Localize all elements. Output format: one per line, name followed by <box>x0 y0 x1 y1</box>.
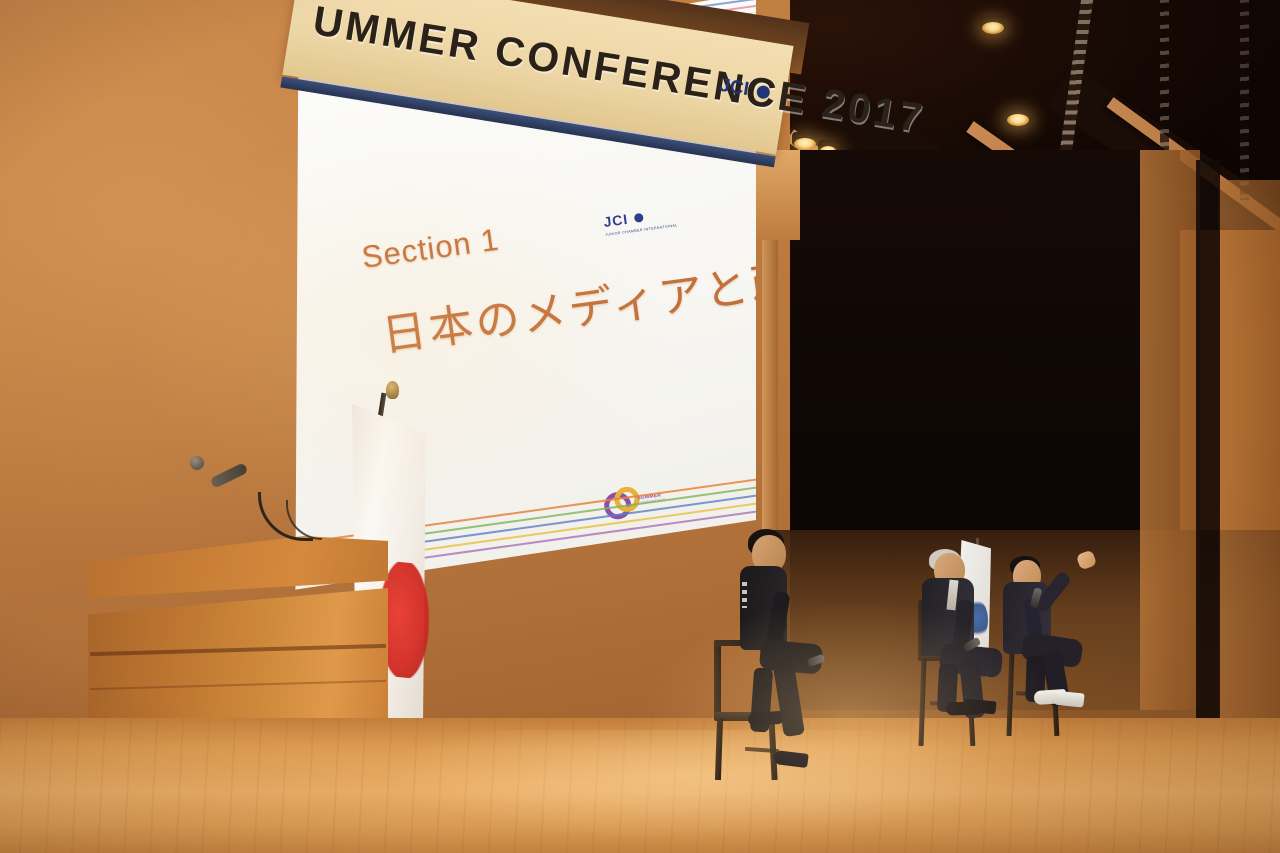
banner-jci-text: JCI <box>718 75 751 100</box>
slide-jci-logo: JCI JUNIOR CHAMBER INTERNATIONAL <box>602 204 677 236</box>
spotlight-icon <box>1007 114 1029 126</box>
spotlight-icon <box>794 138 816 150</box>
stage-floor-reflection <box>380 730 1000 840</box>
stool-back-rail <box>714 640 742 646</box>
slide-jci-logo-text: JCI <box>602 211 629 230</box>
stage-wing-gap <box>1196 160 1220 720</box>
shirt-sleeve-print <box>742 582 747 608</box>
stage-photo: JCI JUNIOR CHAMBER INTERNATIONAL Section… <box>0 0 1280 853</box>
spotlight-icon <box>982 22 1004 34</box>
stage-wing-panel <box>1140 150 1200 710</box>
shoe <box>748 711 783 726</box>
banner-jci-dot <box>756 85 771 100</box>
stool-back-post <box>714 640 721 718</box>
flag-finial <box>386 381 399 399</box>
microphone-capsule <box>190 456 204 470</box>
slide-jci-logo-dot <box>634 213 644 223</box>
slide-section-label: Section 1 <box>360 222 502 276</box>
stage-wing-panel <box>1218 180 1280 720</box>
rigging-cable <box>1240 0 1249 200</box>
podium-top-surface <box>88 536 388 598</box>
